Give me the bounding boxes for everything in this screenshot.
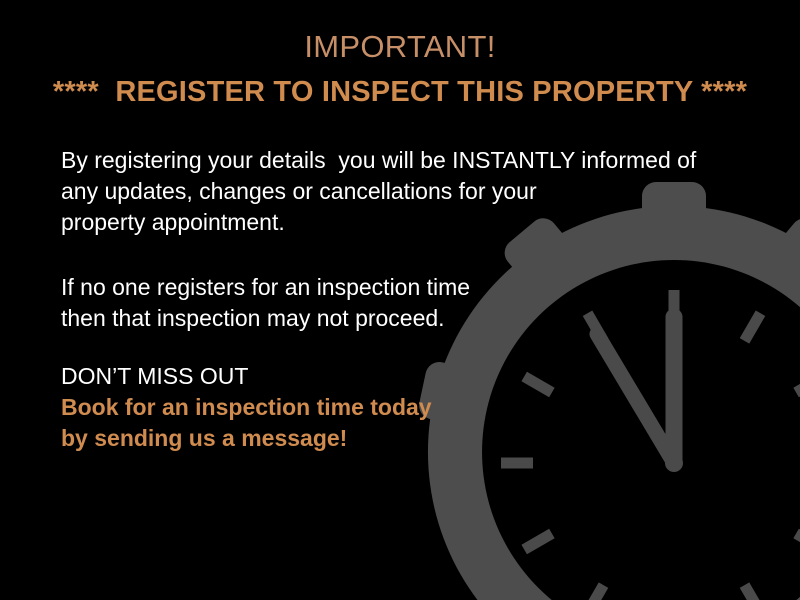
cta-line-dont-miss-out: DON’T MISS OUT: [61, 361, 561, 392]
body-paragraph-2: If no one registers for an inspection ti…: [61, 272, 721, 334]
slide-text-layer: IMPORTANT! **** REGISTER TO INSPECT THIS…: [0, 0, 800, 600]
promotional-slide: IMPORTANT! **** REGISTER TO INSPECT THIS…: [0, 0, 800, 600]
headline: IMPORTANT!: [0, 30, 800, 64]
cta-line-book-inspection: Book for an inspection time today: [61, 392, 561, 423]
call-to-action-block: DON’T MISS OUT Book for an inspection ti…: [61, 361, 561, 454]
body-paragraph-1: By registering your details you will be …: [61, 145, 721, 238]
cta-line-send-message: by sending us a message!: [61, 423, 561, 454]
subheadline: **** REGISTER TO INSPECT THIS PROPERTY *…: [0, 76, 800, 109]
